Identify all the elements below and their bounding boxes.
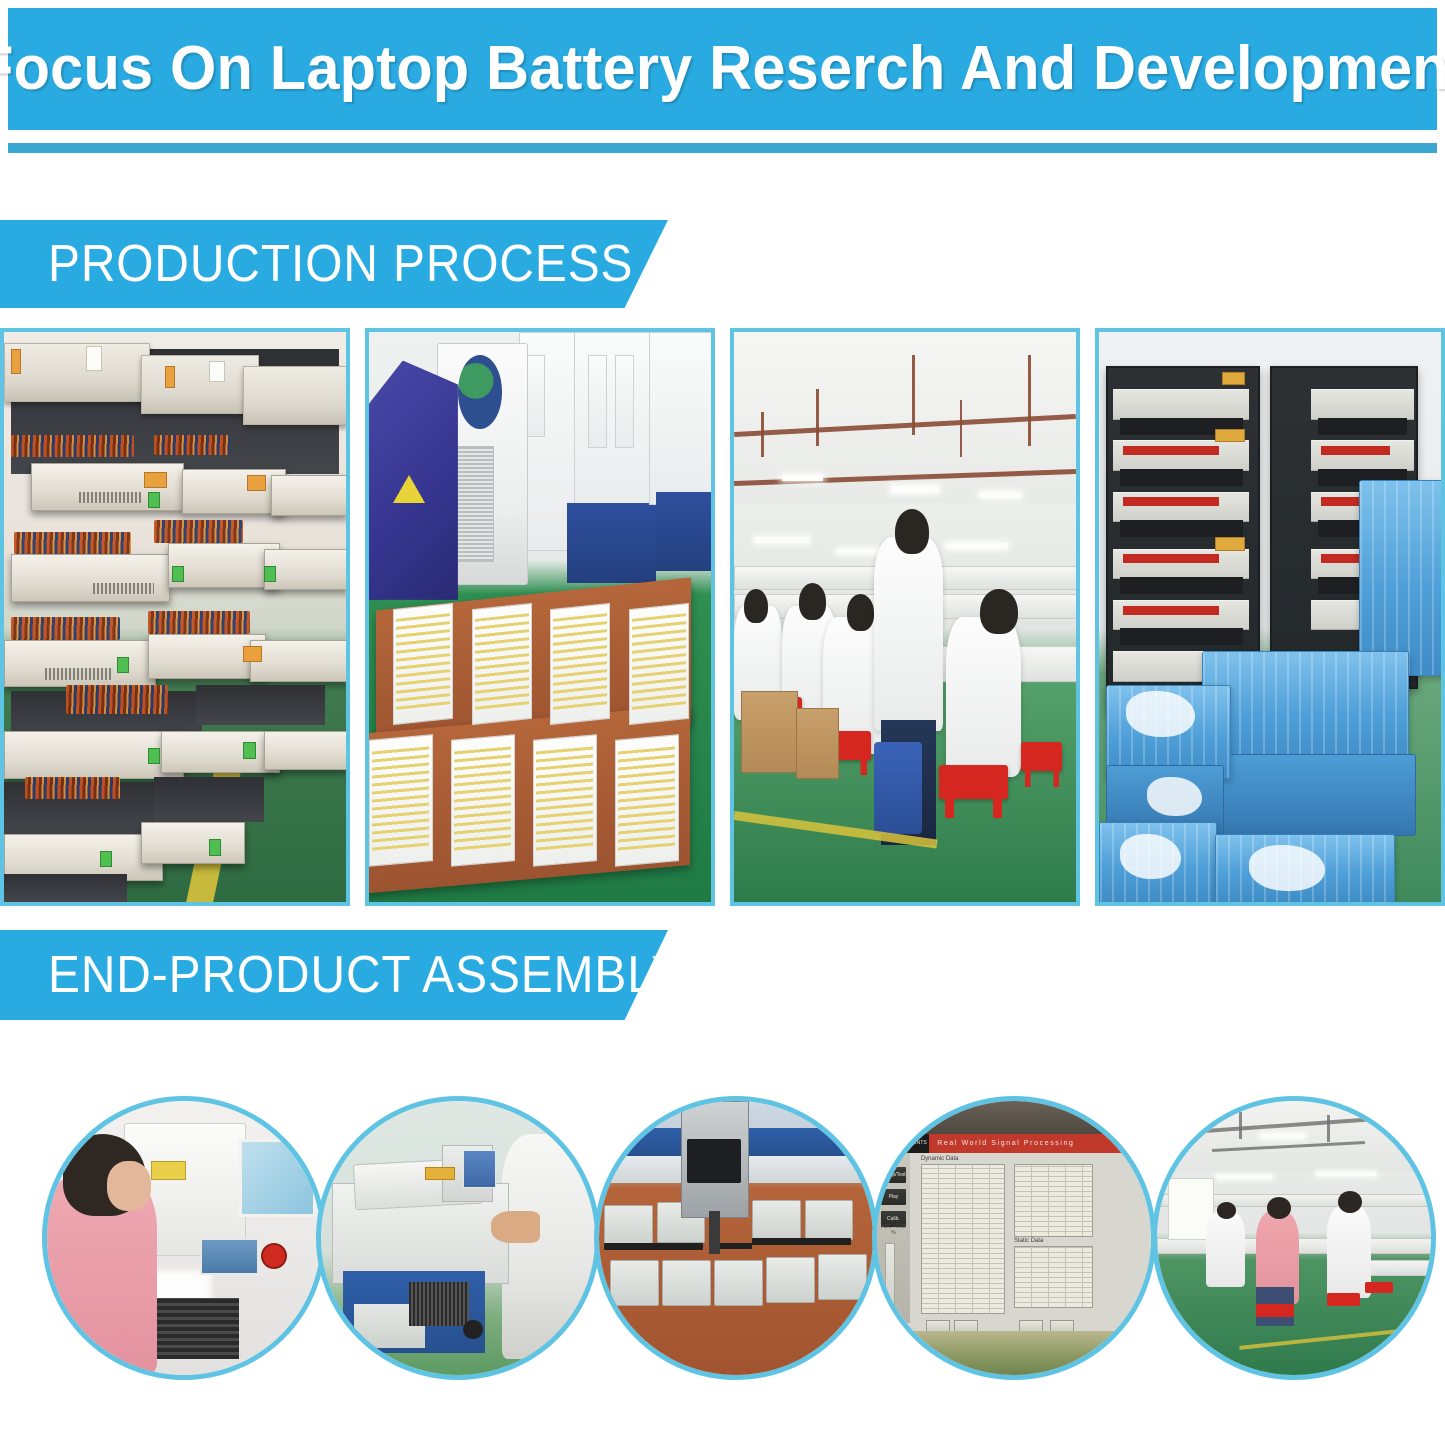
software-banner-title: Real World Signal Processing	[937, 1135, 1140, 1151]
software-adc-percent: ADC 70.88 %	[880, 1224, 907, 1236]
assembly-circle-row: INSTRUMENTS Real World Signal Processing…	[0, 1096, 1445, 1396]
production-photo-4-test-cabinets-and-totes	[1095, 328, 1445, 906]
software-rail-button-setup-test[interactable]: SetUp/Test	[881, 1167, 906, 1183]
software-dynamic-data-label: Dynamic Data	[921, 1156, 959, 1162]
infographic-page: Focus On Laptop Battery Reserch And Deve…	[0, 0, 1445, 1445]
production-photo-3-assembly-line-workers	[730, 328, 1080, 906]
software-rail-button-play[interactable]: Play	[881, 1189, 906, 1205]
page-title: Focus On Laptop Battery Reserch And Deve…	[0, 38, 1445, 100]
assembly-photo-2-laser-marking-machine	[316, 1096, 600, 1380]
header-banner: Focus On Laptop Battery Reserch And Deve…	[8, 8, 1437, 130]
section-banner-production-process: PRODUCTION PROCESS	[0, 220, 668, 308]
production-photo-2-cell-tray-laser-station	[365, 328, 715, 906]
software-brand-label: INSTRUMENTS	[891, 1135, 935, 1151]
section-title-end-product-assembly: END-PRODUCT ASSEMBLY	[48, 949, 684, 1001]
section-banner-end-product-assembly: END-PRODUCT ASSEMBLY	[0, 930, 668, 1020]
header-underbar	[8, 143, 1437, 153]
software-static-data-label: Static Data	[1014, 1238, 1043, 1244]
production-photo-1-battery-aging-test-racks	[0, 328, 350, 906]
assembly-photo-5-assembly-workshop	[1152, 1096, 1436, 1380]
production-photo-row	[0, 328, 1445, 906]
assembly-photo-4-battery-test-software-screen: INSTRUMENTS Real World Signal Processing…	[872, 1096, 1156, 1380]
assembly-photo-1-operator-spot-welding-station	[42, 1096, 326, 1380]
assembly-photo-3-automated-welding-head	[594, 1096, 878, 1380]
section-title-production-process: PRODUCTION PROCESS	[48, 238, 633, 290]
